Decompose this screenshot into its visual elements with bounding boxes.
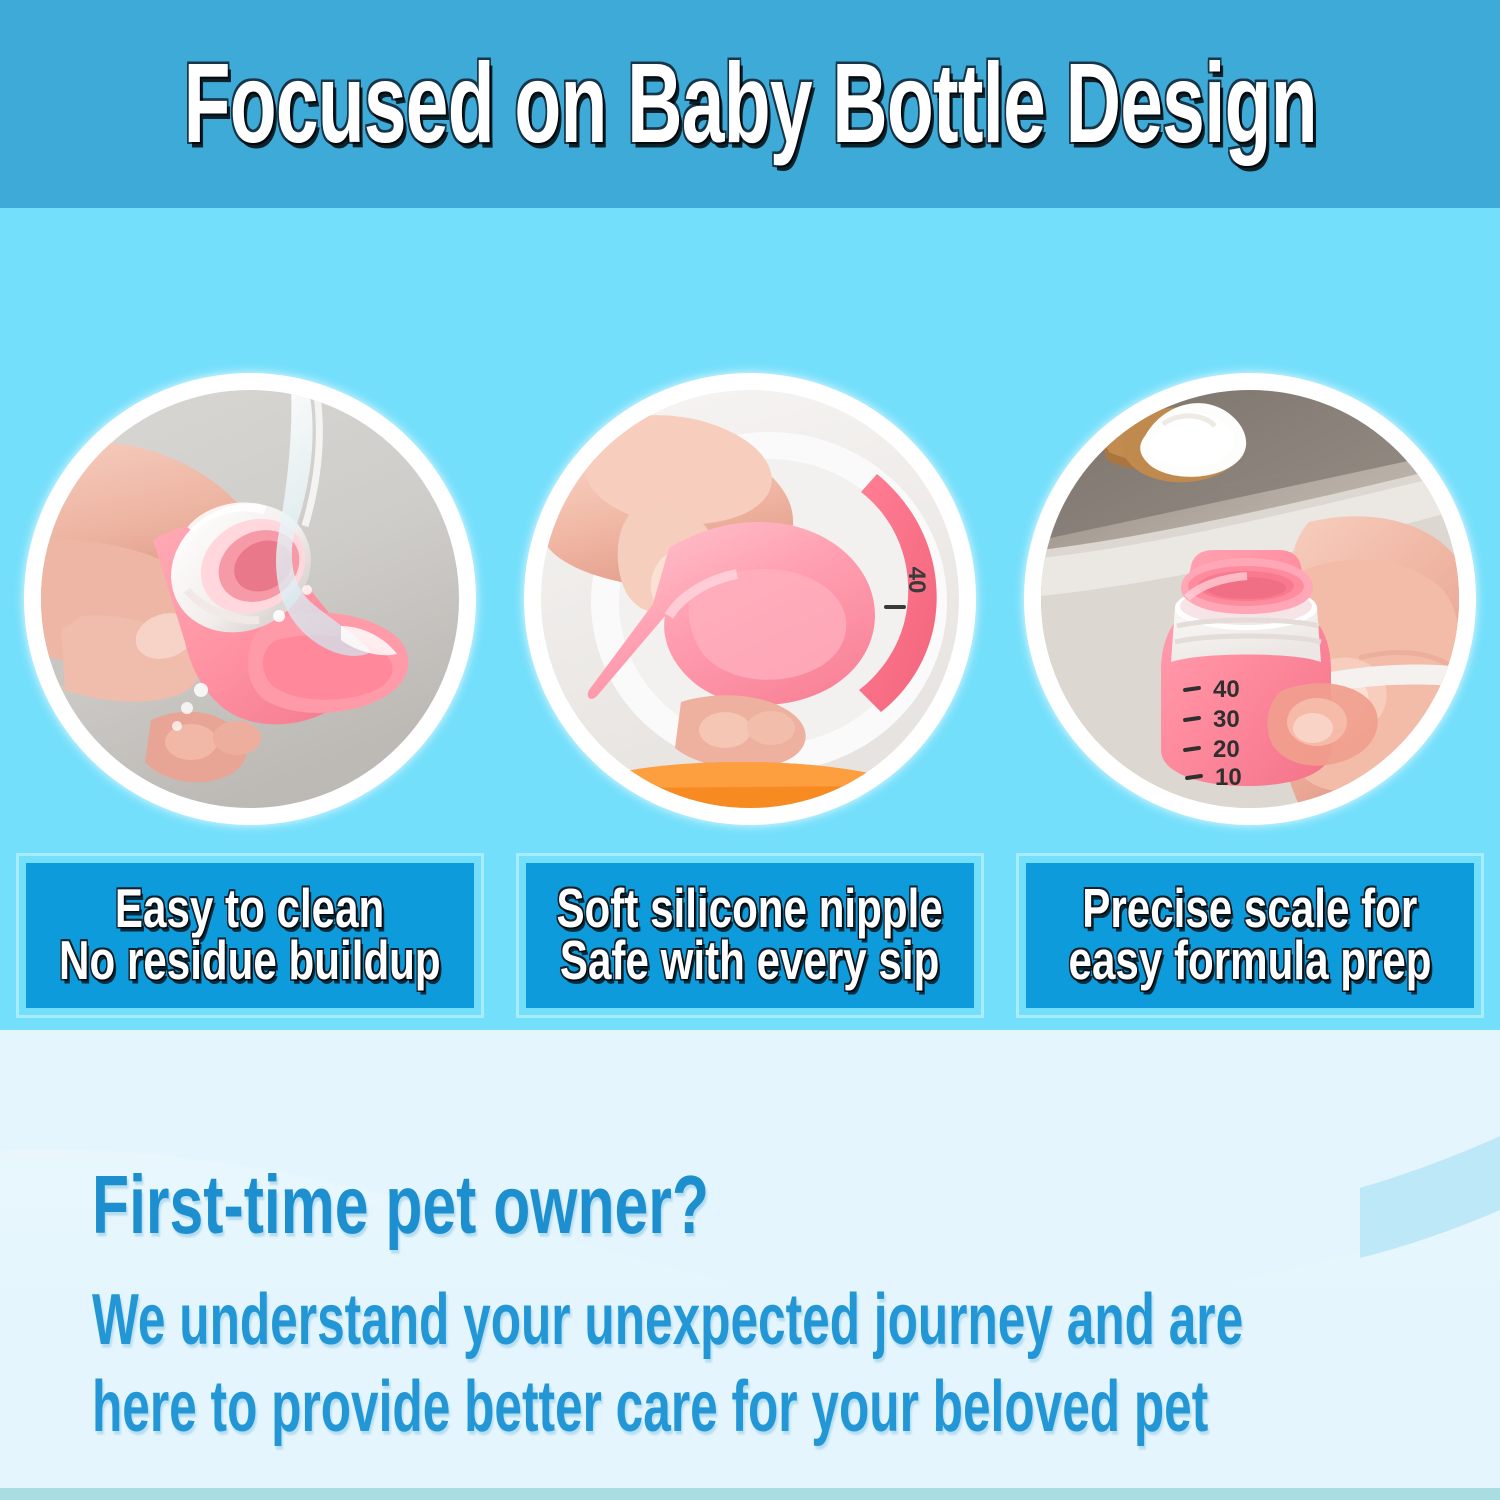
scale-label-20: 20 — [1213, 736, 1240, 763]
feature-card: 40 — [510, 208, 990, 1038]
photo-frame: 40 30 20 10 — [1024, 373, 1476, 825]
bottom-body-line-2: here to provide better care for your bel… — [92, 1368, 1156, 1449]
bottom-body-line-1: We understand your unexpected journey an… — [92, 1280, 1156, 1361]
header-band: Focused on Baby Bottle Design — [0, 0, 1500, 208]
caption-line-2: easy formula prep — [1068, 932, 1431, 990]
photo-frame: 40 — [524, 373, 976, 825]
caption-panel: Easy to clean No residue buildup — [26, 863, 474, 1008]
feature-card: 40 30 20 10 — [1010, 208, 1490, 1038]
scale-label-30: 30 — [1213, 706, 1240, 733]
caption-line-2: Safe with every sip — [560, 932, 939, 990]
bottom-edge-strip — [0, 1488, 1500, 1500]
scale-label-40: 40 — [1213, 676, 1240, 703]
photo-measuring-formula-powder: 40 30 20 10 — [1041, 390, 1459, 808]
infographic-page: Focused on Baby Bottle Design — [0, 0, 1500, 1500]
feature-cards-row: Easy to clean No residue buildup — [0, 208, 1500, 1038]
photo-squeezing-silicone-nipple: 40 — [541, 390, 959, 808]
bottom-copy-block: First-time pet owner? We understand your… — [92, 1168, 1422, 1461]
page-title: Focused on Baby Bottle Design — [183, 47, 1316, 160]
caption-panel: Soft silicone nipple Safe with every sip — [526, 863, 974, 1008]
scale-label-10: 10 — [1215, 764, 1242, 791]
photo-rinsing-bottle-under-water — [41, 390, 459, 808]
svg-text:40: 40 — [903, 567, 930, 594]
caption-panel: Precise scale for easy formula prep — [1026, 863, 1474, 1008]
photo-frame — [24, 373, 476, 825]
feature-card: Easy to clean No residue buildup — [10, 208, 490, 1038]
bottom-lead-heading: First-time pet owner? — [92, 1164, 1183, 1247]
caption-line-2: No residue buildup — [59, 932, 441, 990]
